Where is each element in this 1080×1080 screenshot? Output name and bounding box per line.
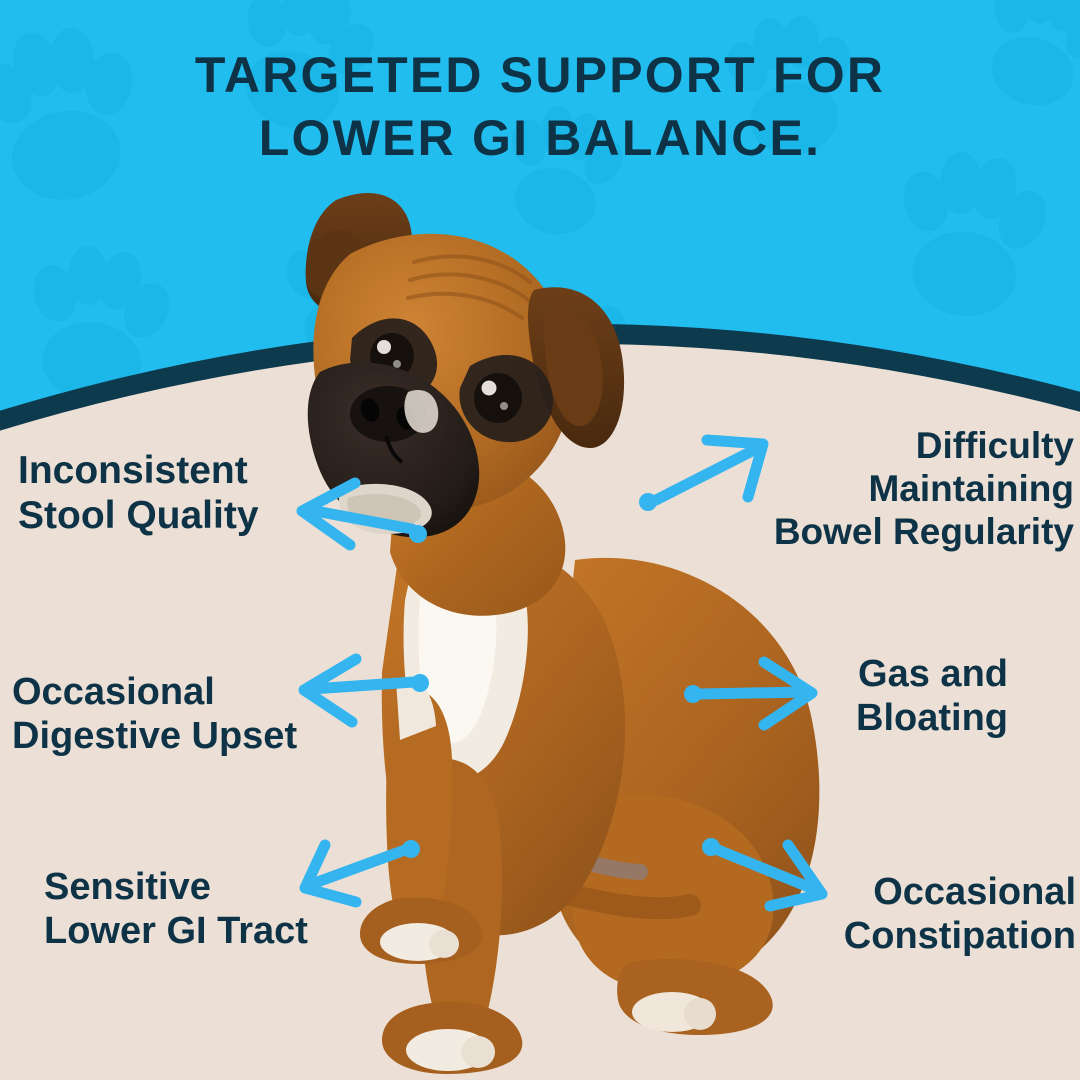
arrow-up-right-bowel <box>656 440 763 500</box>
callout-line: Constipation <box>844 914 1076 958</box>
arrow-dot-sensitive <box>402 840 420 858</box>
callout-line: Bloating <box>856 696 1008 740</box>
callout-line: Difficulty <box>774 425 1074 468</box>
callout-gas-and-bloating: Gas and Bloating <box>856 652 1008 740</box>
callout-line: Bowel Regularity <box>774 511 1074 554</box>
callout-occasional-constipation: Occasional Constipation <box>844 870 1076 958</box>
infographic-canvas: TARGETED SUPPORT FOR LOWER GI BALANCE. <box>0 0 1080 1080</box>
arrow-right-straight-gas <box>700 662 812 725</box>
arrow-dot-bowel <box>639 493 657 511</box>
arrow-dot-stool <box>409 525 427 543</box>
callout-line: Maintaining <box>774 468 1074 511</box>
callout-line: Inconsistent <box>18 448 259 493</box>
arrow-left-straight-stool <box>302 483 412 545</box>
callout-line: Occasional <box>12 670 297 714</box>
callout-line: Sensitive <box>44 865 308 909</box>
callout-inconsistent-stool-quality: Inconsistent Stool Quality <box>18 448 259 538</box>
arrow-left-straight-digestive <box>304 659 414 722</box>
callout-line: Digestive Upset <box>12 714 297 758</box>
arrow-dot-digestive <box>411 674 429 692</box>
callout-line: Gas and <box>856 652 1008 696</box>
arrow-dot-gas <box>684 685 702 703</box>
callout-sensitive-lower-gi-tract: Sensitive Lower GI Tract <box>44 865 308 953</box>
arrow-down-right-constipation <box>718 845 822 906</box>
arrow-down-left-sensitive <box>305 845 405 902</box>
callout-occasional-digestive-upset: Occasional Digestive Upset <box>12 670 297 758</box>
callout-line: Lower GI Tract <box>44 909 308 953</box>
callout-line: Stool Quality <box>18 493 259 538</box>
callout-line: Occasional <box>844 870 1076 914</box>
callout-difficulty-maintaining-bowel-regularity: Difficulty Maintaining Bowel Regularity <box>774 425 1074 554</box>
arrow-dot-constipation <box>702 838 720 856</box>
